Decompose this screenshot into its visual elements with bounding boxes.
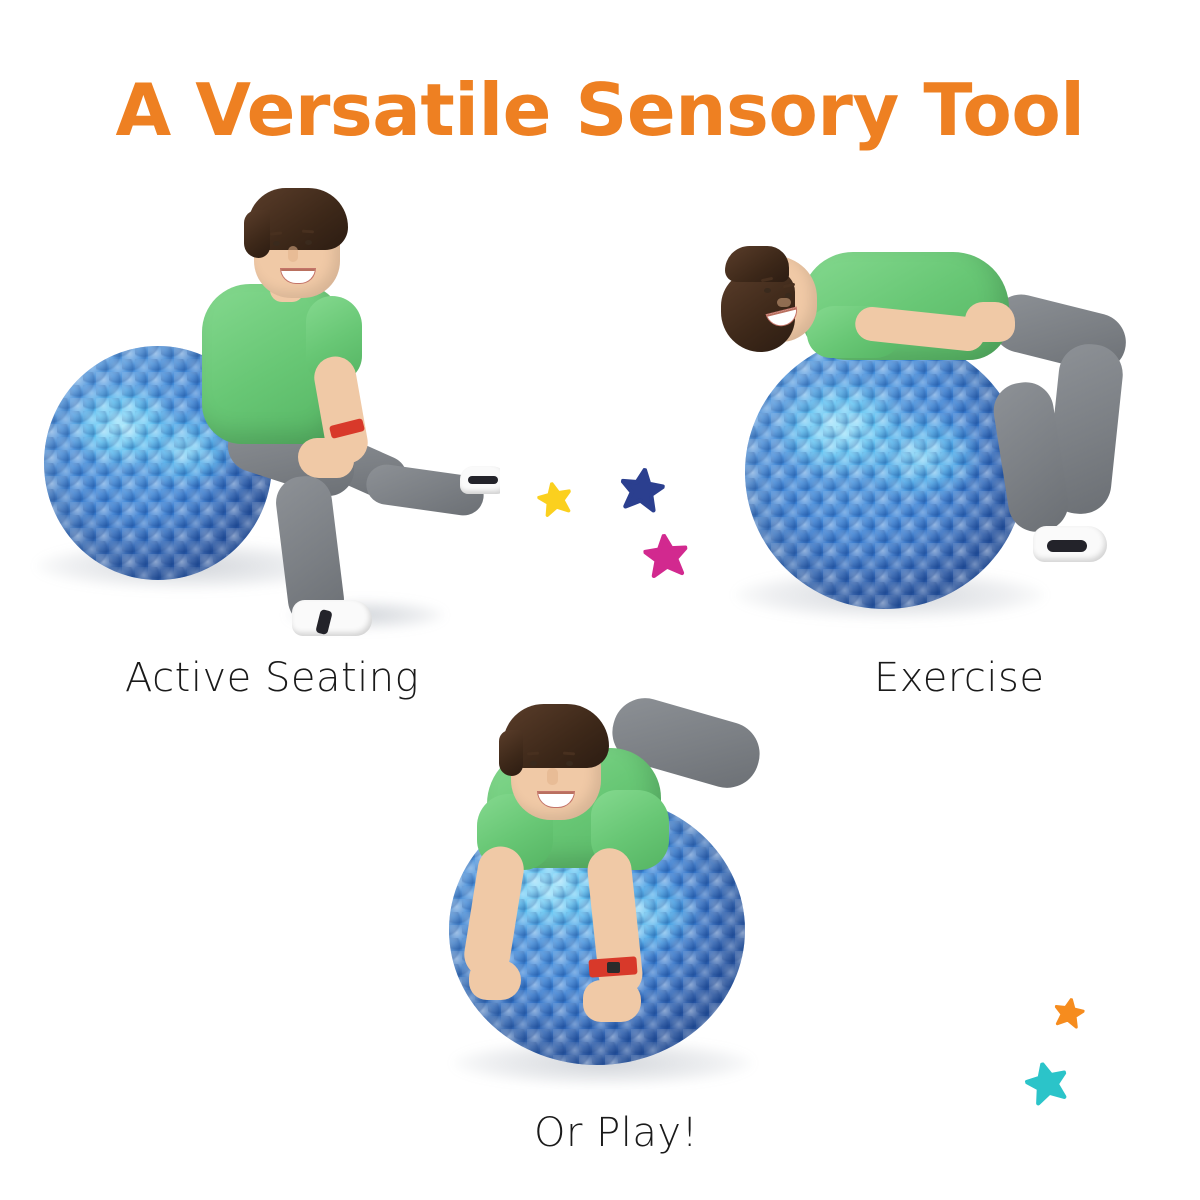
figure-eye-left [764, 288, 771, 293]
star-navy-icon [617, 465, 667, 515]
figure-hand-left [469, 960, 521, 1000]
star-orange-icon [1052, 996, 1087, 1031]
figure-hand [965, 302, 1015, 342]
figure-far-shoe-stripe [468, 476, 498, 484]
caption-or-play: Or Play! [534, 1110, 698, 1156]
star-magenta-icon [642, 532, 690, 580]
figure-hair-top [725, 246, 789, 282]
figure-nose [547, 768, 558, 785]
star-teal-icon [1022, 1058, 1073, 1109]
figure-hand [298, 438, 354, 478]
figure-wristband-face [607, 962, 620, 973]
figure-nose [288, 246, 298, 262]
figure-eye-right [566, 761, 573, 766]
figure-shoe-stripe [1047, 540, 1087, 552]
figure-eye-right [305, 240, 312, 245]
figure-near-shoe [292, 600, 372, 636]
caption-exercise: Exercise [874, 655, 1044, 701]
caption-active-seating: Active Seating [125, 655, 419, 701]
photo-active-seating [30, 170, 500, 640]
figure-hair-sideburn [244, 210, 270, 258]
photo-or-play [425, 690, 795, 1090]
page-title: A Versatile Sensory Tool [0, 68, 1200, 152]
star-yellow-icon [535, 479, 575, 519]
figure-nose [777, 298, 791, 307]
sensory-ball [745, 335, 1025, 609]
figure-hair-sideburn [499, 730, 523, 776]
figure-eye-left [530, 761, 537, 766]
figure-eye-left [273, 241, 280, 246]
photo-exercise [715, 240, 1155, 640]
infographic-canvas: A Versatile Sensory Tool [0, 0, 1200, 1200]
figure-hand-right [583, 980, 641, 1022]
